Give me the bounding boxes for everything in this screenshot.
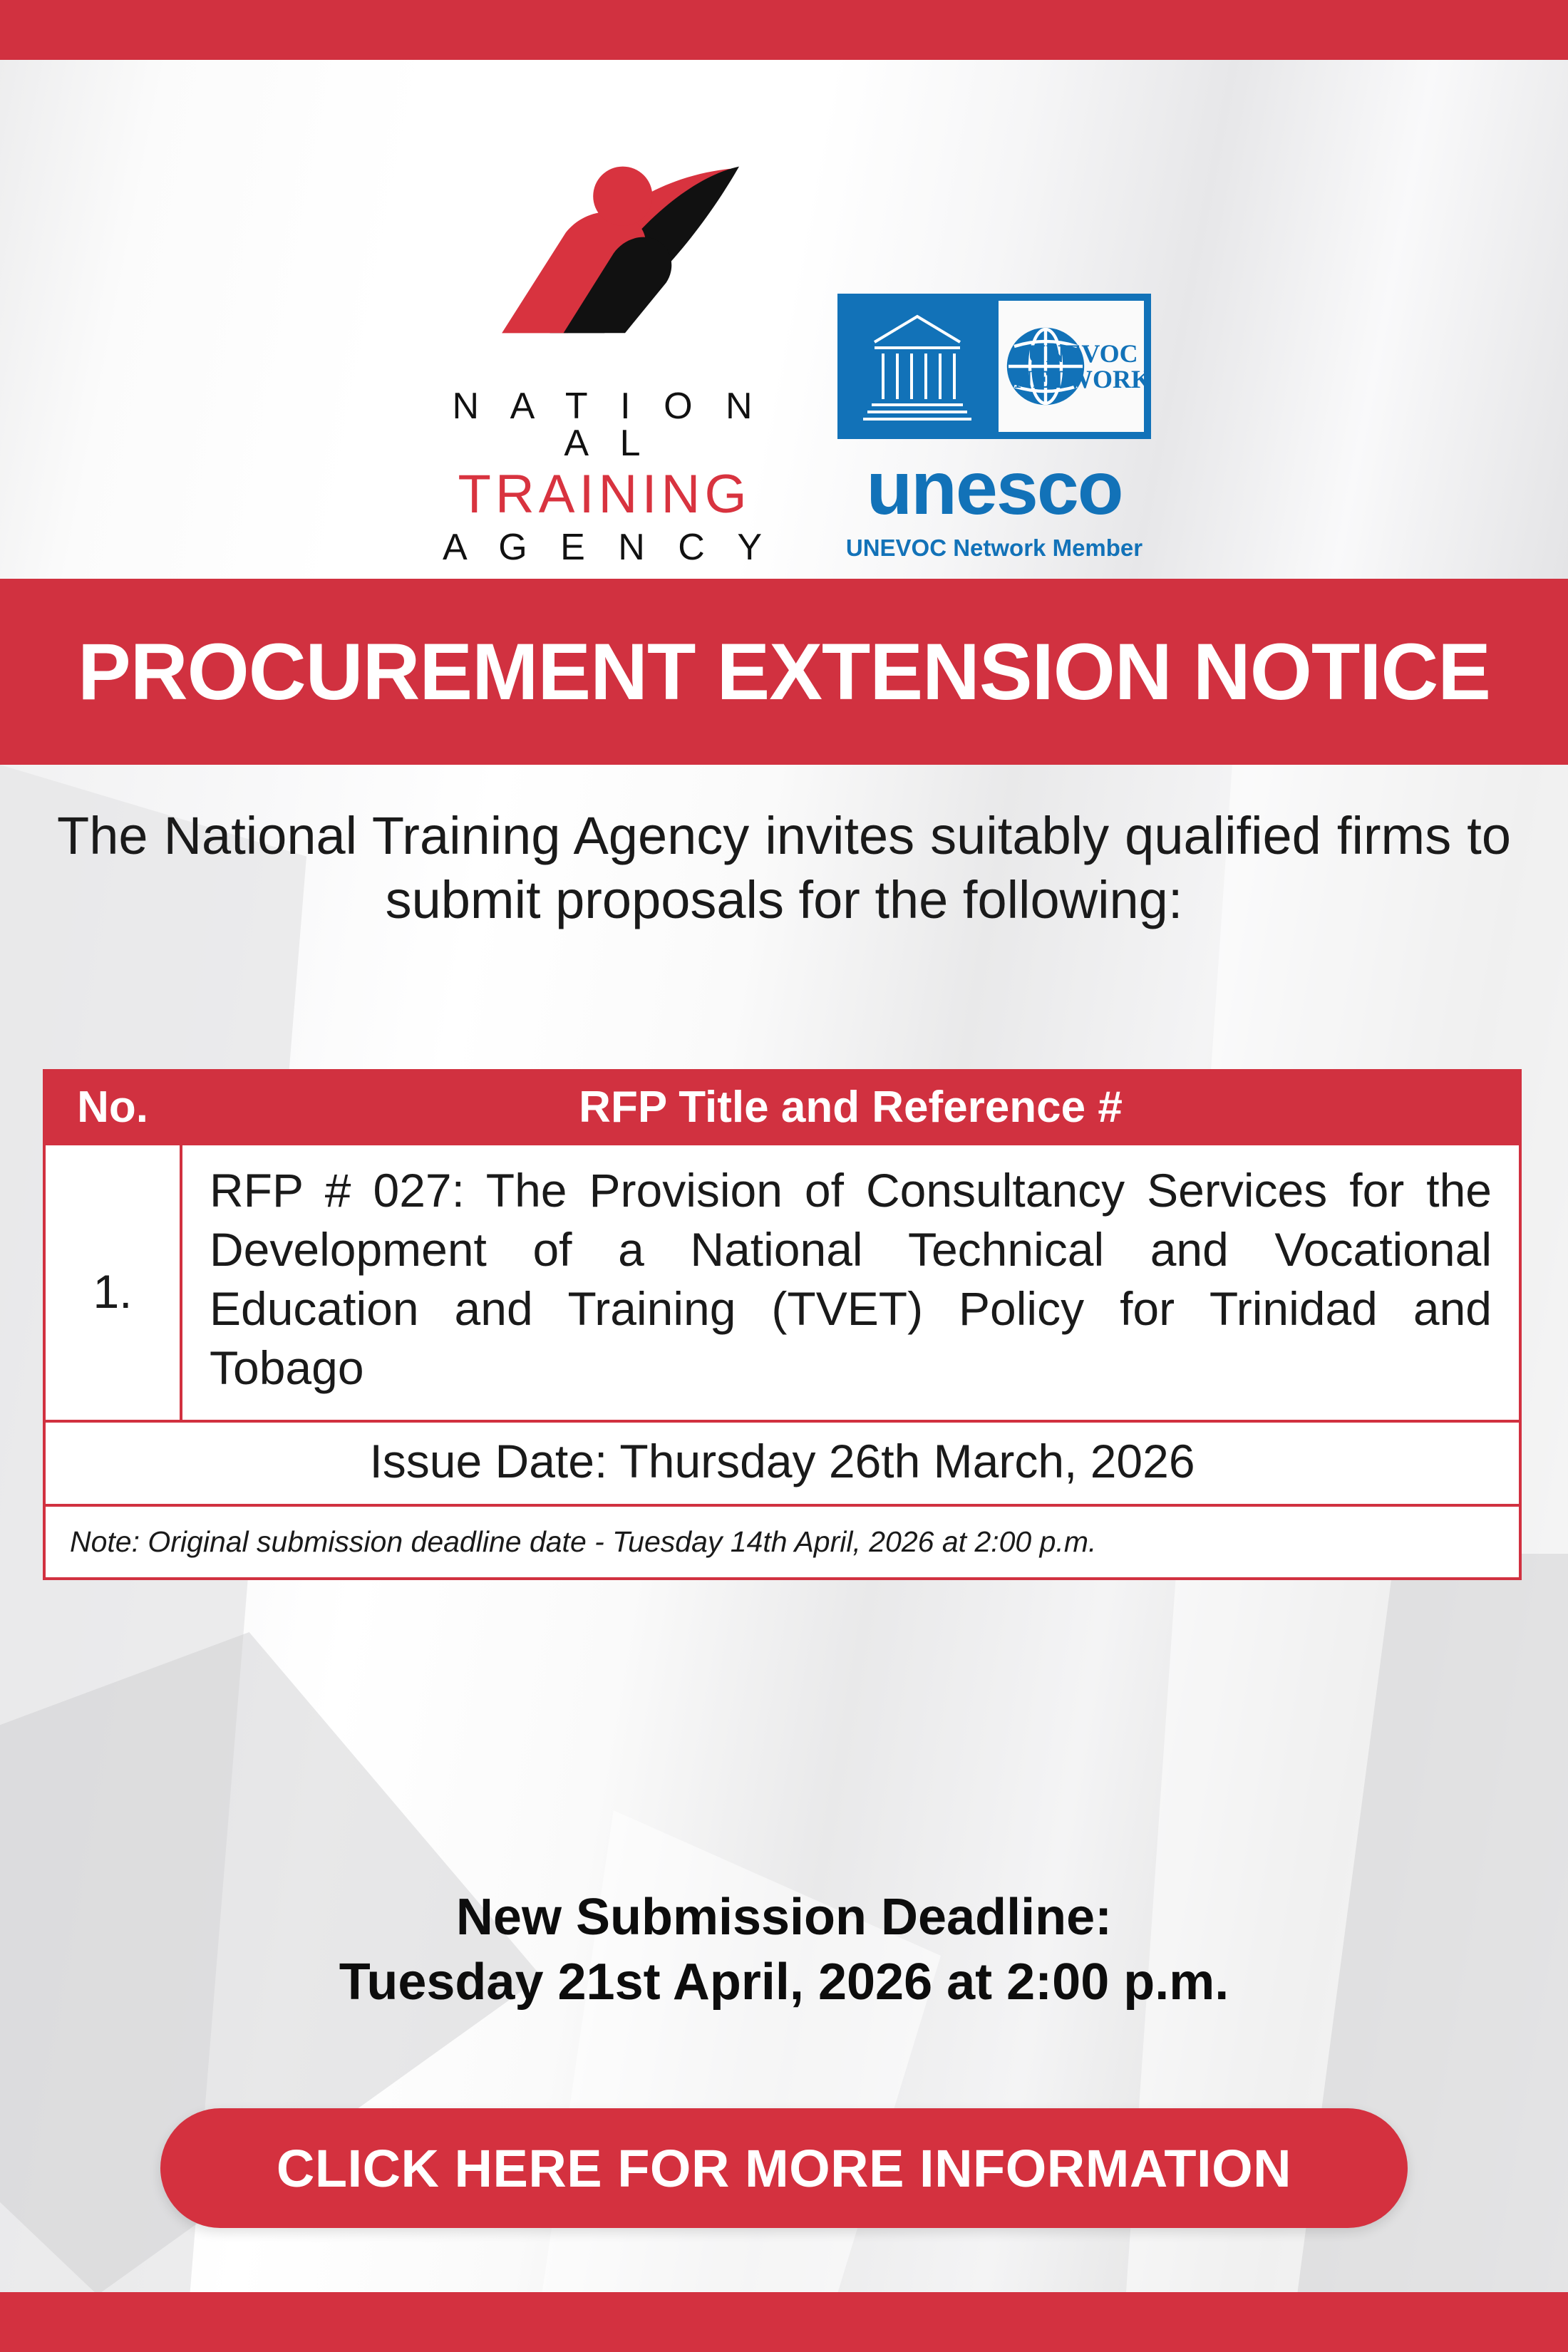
new-deadline-block: New Submission Deadline: Tuesday 21st Ap… [71,1885,1497,2014]
rfp-table-body: 1. RFP # 027: The Provision of Consultan… [44,1144,1520,1579]
nta-wordmark: N A T I O N A L TRAINING A G E N C Y [417,388,788,566]
logo-band: N A T I O N A L TRAINING A G E N C Y [0,60,1568,579]
column-header-no: No. [44,1071,181,1144]
nta-figure-mark [417,160,788,388]
bottom-red-bar [0,2292,1568,2352]
table-header-row: No. RFP Title and Reference # [44,1071,1520,1144]
intro-paragraph: The National Training Agency invites sui… [57,804,1511,933]
unesco-unevoc-emblem: UNEVOC NETWORK [837,294,1151,439]
rfp-table-head: No. RFP Title and Reference # [44,1071,1520,1144]
issue-date-row: Issue Date: Thursday 26th March, 2026 [44,1421,1520,1505]
nta-word-line2: TRAINING [417,468,788,522]
nta-logo: N A T I O N A L TRAINING A G E N C Y [417,160,788,566]
column-header-title: RFP Title and Reference # [181,1071,1520,1144]
title-banner: PROCUREMENT EXTENSION NOTICE [0,579,1568,765]
unesco-logo: UNEVOC NETWORK unesco UNEVOC Network Mem… [837,294,1151,566]
nta-word-line3: A G E N C Y [417,529,788,566]
row-rfp-title: RFP # 027: The Provision of Consultancy … [181,1144,1520,1421]
nta-word-line1: N A T I O N A L [417,388,788,462]
more-information-button[interactable]: CLICK HERE FOR MORE INFORMATION [160,2108,1408,2228]
issue-date-text: Issue Date: Thursday 26th March, 2026 [44,1421,1520,1505]
new-deadline-value: Tuesday 21st April, 2026 at 2:00 p.m. [71,1950,1497,2015]
procurement-notice-poster: N A T I O N A L TRAINING A G E N C Y [0,0,1568,2352]
svg-text:UNEVOC: UNEVOC [1027,339,1138,368]
note-row: Note: Original submission deadline date … [44,1505,1520,1579]
unevoc-member-label: UNEVOC Network Member [837,535,1151,562]
note-text: Note: Original submission deadline date … [44,1505,1520,1579]
row-number: 1. [44,1144,181,1421]
new-deadline-label: New Submission Deadline: [71,1885,1497,1950]
unesco-wordmark: unesco [837,450,1151,526]
svg-text:NETWORK: NETWORK [1014,365,1151,393]
rfp-table: No. RFP Title and Reference # 1. RFP # 0… [43,1069,1522,1580]
table-row: 1. RFP # 027: The Provision of Consultan… [44,1144,1520,1421]
page-title: PROCUREMENT EXTENSION NOTICE [78,626,1490,718]
top-red-bar [0,0,1568,60]
logo-row: N A T I O N A L TRAINING A G E N C Y [0,60,1568,579]
